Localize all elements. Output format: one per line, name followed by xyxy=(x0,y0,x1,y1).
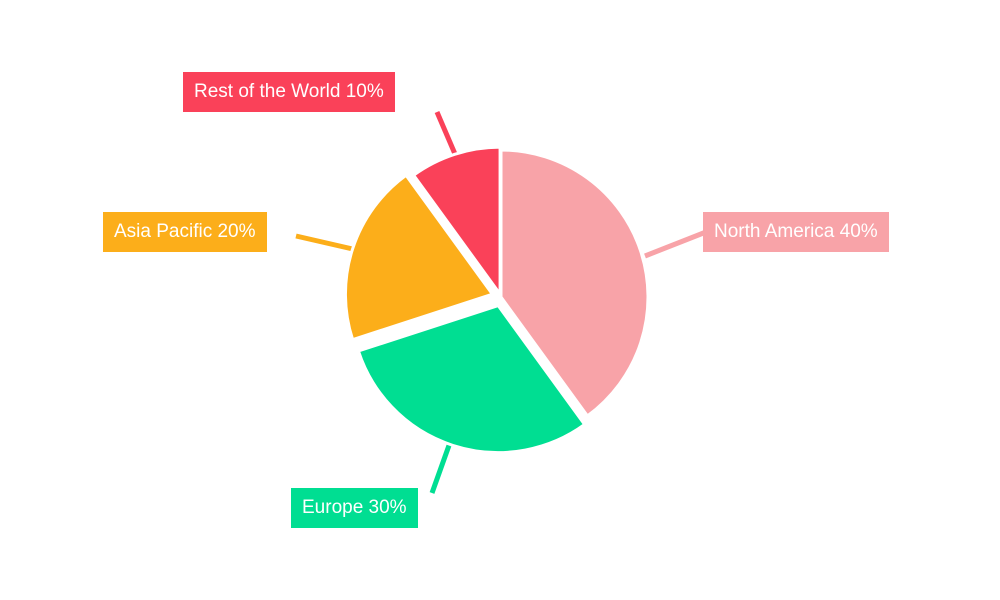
slice-label-asia-pacific[interactable]: Asia Pacific 20% xyxy=(103,212,267,252)
pie-chart-canvas xyxy=(0,0,1000,600)
slice-label-europe[interactable]: Europe 30% xyxy=(291,488,418,528)
leader-line-north-america xyxy=(645,232,706,256)
slice-label-rest-of-world[interactable]: Rest of the World 10% xyxy=(183,72,395,112)
slice-label-north-america[interactable]: North America 40% xyxy=(703,212,889,252)
leader-line-asia-pacific xyxy=(296,236,357,250)
pie-chart: North America 40% Europe 30% Asia Pacifi… xyxy=(0,0,1000,600)
pie-slices xyxy=(345,147,648,452)
